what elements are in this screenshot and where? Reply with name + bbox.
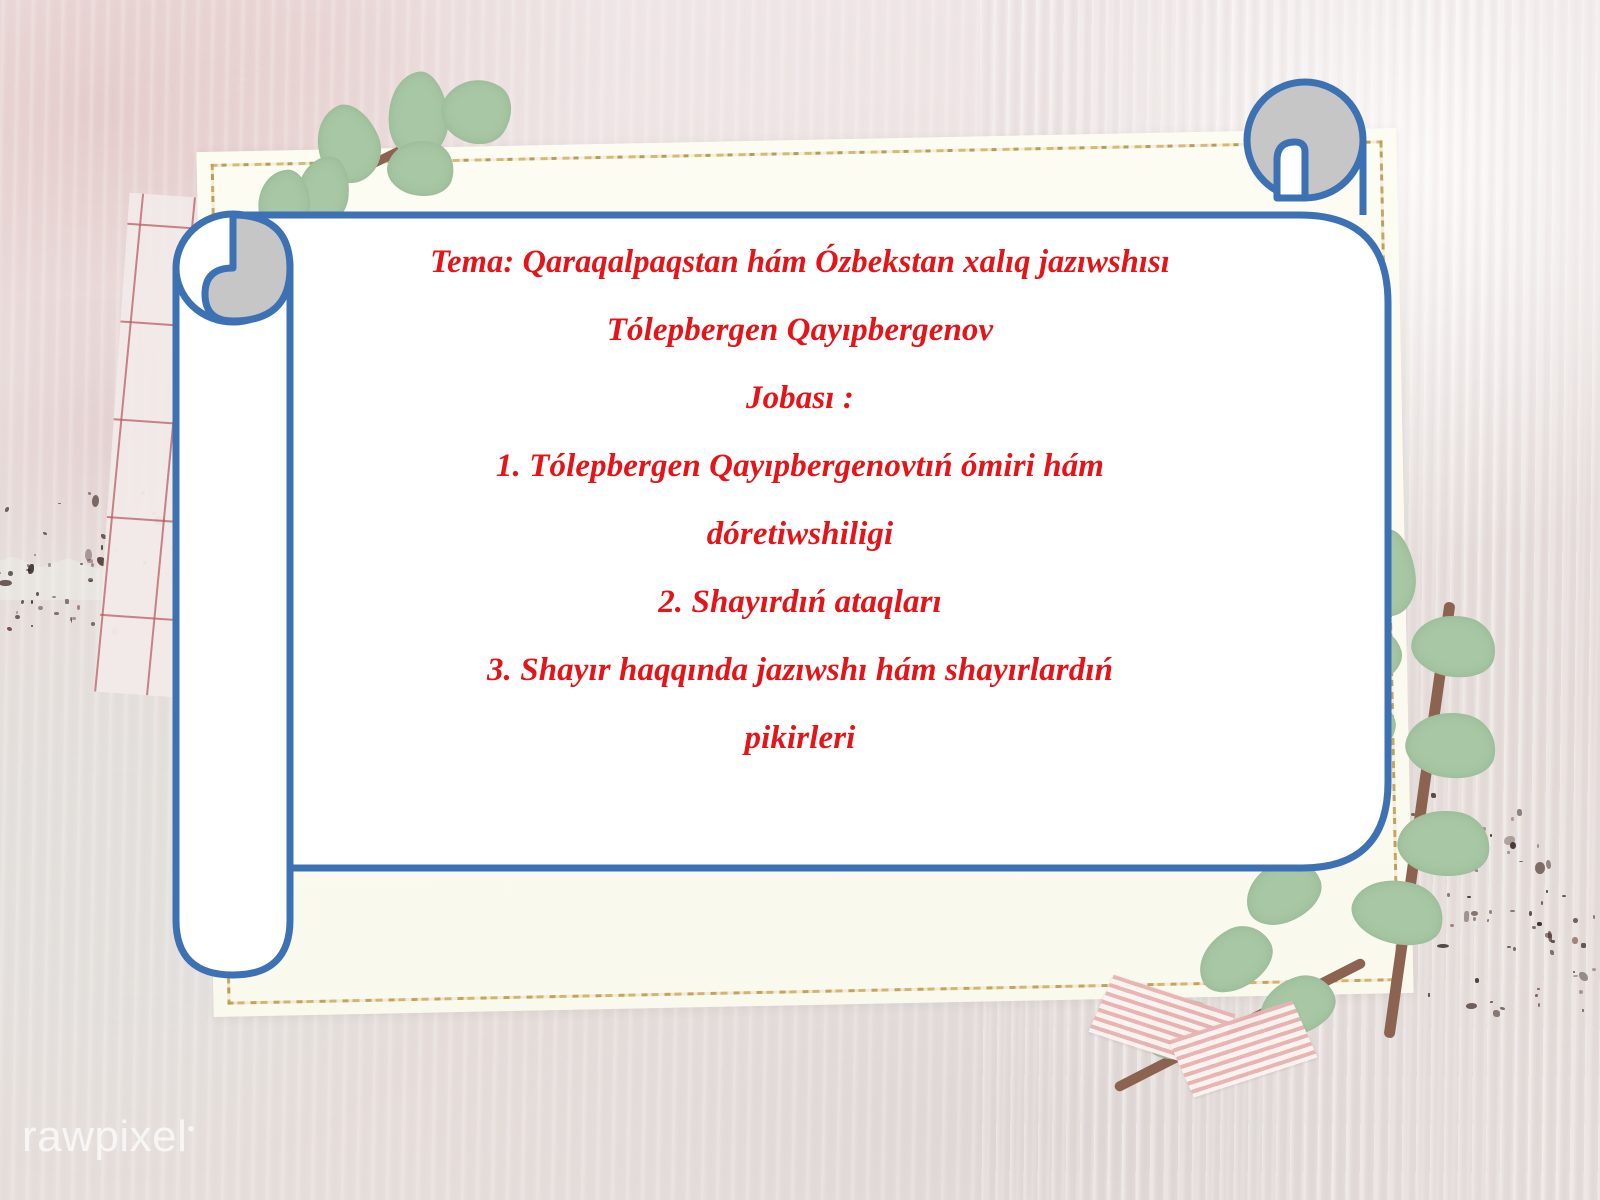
slide-line-8: pikirleri xyxy=(300,704,1300,772)
scroll-left-roll xyxy=(176,268,290,975)
slide-line-1: Tema: Qaraqalpaqstan hám Ózbekstan xalıq… xyxy=(300,228,1300,296)
slide-text-block: Tema: Qaraqalpaqstan hám Ózbekstan xalıq… xyxy=(300,228,1300,772)
slide-canvas: Tema: Qaraqalpaqstan hám Ózbekstan xalıq… xyxy=(0,0,1600,1200)
slide-line-6: 2. Shayırdıń ataqları xyxy=(300,568,1300,636)
scroll-right-curl-notch xyxy=(1277,142,1305,198)
slide-line-5: dóretiwshiligi xyxy=(300,500,1300,568)
slide-line-4: 1. Tólepbergen Qayıpbergenovtıń ómiri há… xyxy=(300,432,1300,500)
slide-line-3: Jobası : xyxy=(300,364,1300,432)
rawpixel-watermark: rawpixel• xyxy=(22,1112,195,1162)
watermark-dot: • xyxy=(187,1118,195,1140)
watermark-text: rawpixel xyxy=(22,1112,187,1161)
slide-line-2: Tólepbergen Qayıpbergenov xyxy=(300,296,1300,364)
slide-line-7: 3. Shayır haqqında jazıwshı hám shayırla… xyxy=(300,636,1300,704)
